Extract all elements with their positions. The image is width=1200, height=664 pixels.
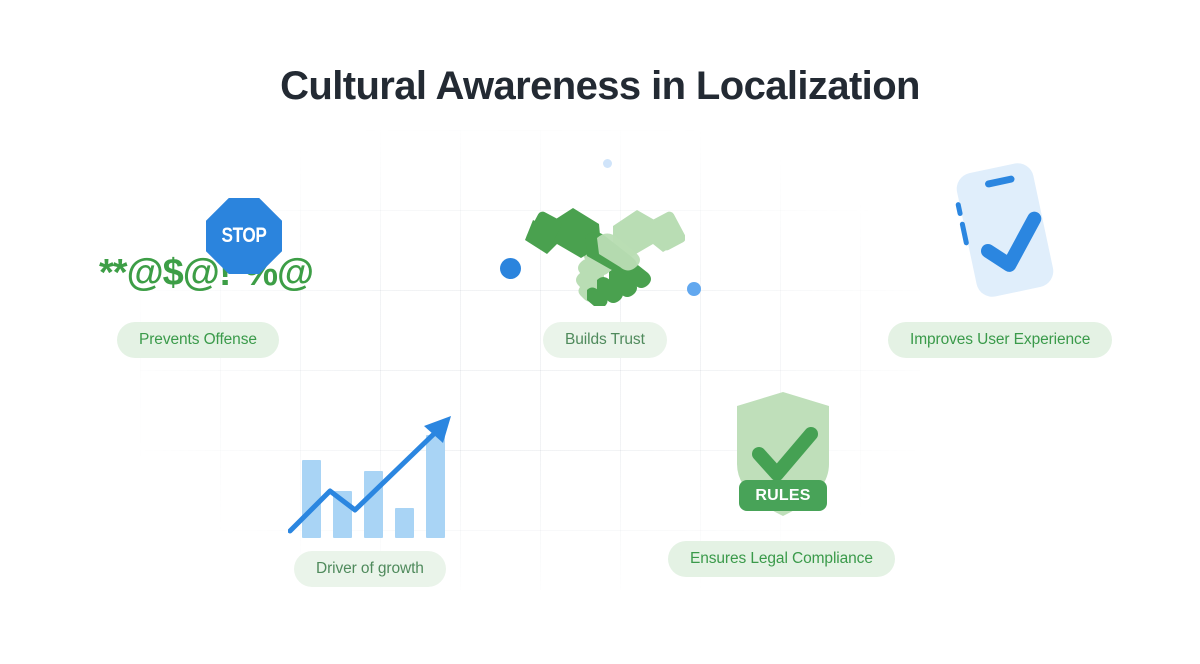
label-prevents-offense: Prevents Offense — [117, 322, 279, 358]
label-ensures-legal-compliance: Ensures Legal Compliance — [668, 541, 895, 577]
label-improves-user-experience: Improves User Experience — [888, 322, 1112, 358]
dot-small-blue-icon — [687, 282, 701, 296]
dot-large-blue-icon — [500, 258, 521, 279]
label-driver-of-growth: Driver of growth — [294, 551, 446, 587]
label-builds-trust: Builds Trust — [543, 322, 667, 358]
stop-sign-label: STOP — [213, 198, 275, 274]
dot-faint-blue-icon — [603, 159, 612, 168]
rules-banner: RULES — [739, 480, 827, 511]
infographic-canvas: Cultural Awareness in Localization **@$@… — [0, 0, 1200, 664]
phone-checkmark-icon — [940, 155, 1070, 310]
stop-sign-icon: STOP — [206, 198, 282, 274]
rules-banner-label: RULES — [755, 487, 810, 505]
bar-chart-growth-icon — [288, 398, 458, 538]
handshake-icon — [525, 196, 685, 311]
growth-arrow-icon — [288, 398, 458, 538]
page-title: Cultural Awareness in Localization — [0, 64, 1200, 109]
